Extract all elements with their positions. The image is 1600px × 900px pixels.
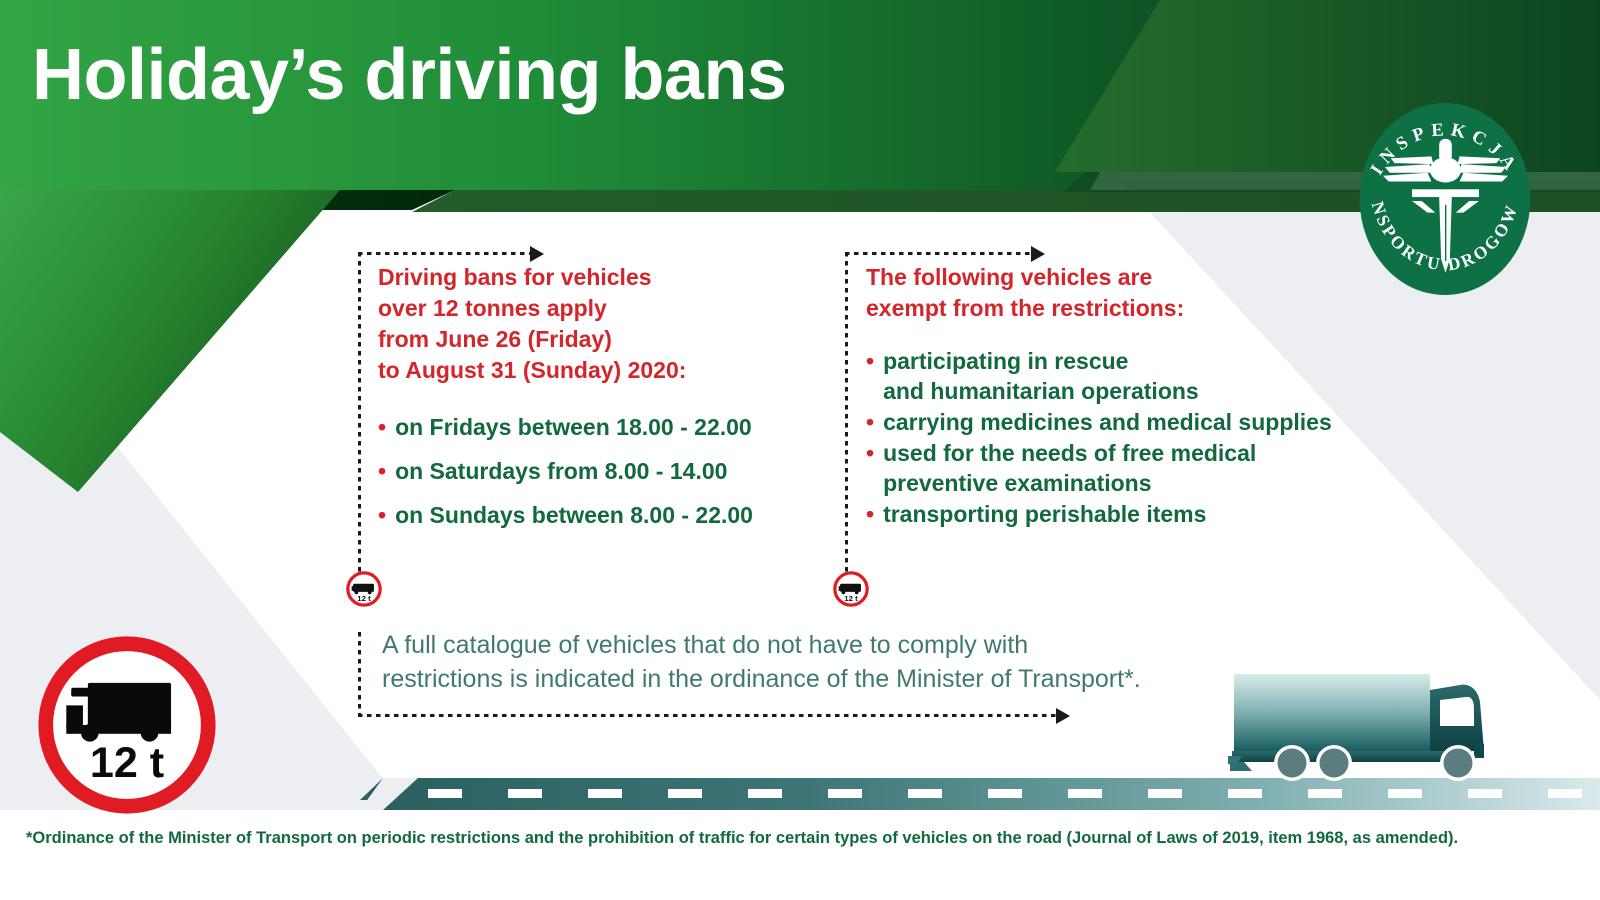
mini-sign-left-label: 12 t <box>357 594 371 603</box>
bullet-dot-icon: • <box>378 412 386 442</box>
bullet-dot-icon: • <box>866 346 874 376</box>
sign-12t-large: 12 t <box>34 632 220 818</box>
left-heading: Driving bans for vehicles over 12 tonnes… <box>378 262 818 386</box>
bullet-dot-icon: • <box>866 407 874 437</box>
mini-sign-right-label: 12 t <box>844 594 858 603</box>
list-item-label: carrying medicines and medical supplies <box>883 407 1332 437</box>
mini-sign-12t-left: 12 t <box>345 570 383 608</box>
cargo-truck-illustration <box>1222 650 1522 790</box>
list-item-label: participating in rescue and humanitarian… <box>883 346 1199 406</box>
right-text-column: The following vehicles are exempt from t… <box>866 262 1376 530</box>
left-connector-vertical <box>358 252 361 582</box>
list-item-label: used for the needs of free medical preve… <box>883 438 1256 498</box>
right-heading: The following vehicles are exempt from t… <box>866 262 1376 324</box>
inspekcja-transportu-drogowego-logo: INSPEKCJA TRANSPORTU DROGOWEGO <box>1348 96 1542 302</box>
list-item: • on Fridays between 18.00 - 22.00 <box>378 412 818 442</box>
list-item: • on Sundays between 8.00 - 22.00 <box>378 500 818 530</box>
right-connector-arrowhead <box>1031 246 1045 262</box>
left-connector-horizontal <box>358 252 530 255</box>
left-text-column: Driving bans for vehicles over 12 tonnes… <box>378 262 818 544</box>
bullet-dot-icon: • <box>378 500 386 530</box>
catalogue-note: A full catalogue of vehicles that do not… <box>382 628 1222 696</box>
list-item-label: on Fridays between 18.00 - 22.00 <box>395 412 752 442</box>
right-bullet-list: • participating in rescue and humanitari… <box>866 346 1376 529</box>
list-item: • on Saturdays from 8.00 - 14.00 <box>378 456 818 486</box>
sign-12t-large-label: 12 t <box>90 739 164 787</box>
note-connector-horizontal <box>358 714 1056 717</box>
infographic-canvas: Holiday’s driving bans INSPEKCJA TRANSPO… <box>0 0 1600 900</box>
list-item-label: on Sundays between 8.00 - 22.00 <box>395 500 753 530</box>
bullet-dot-icon: • <box>866 499 874 529</box>
list-item: • transporting perishable items <box>866 499 1376 529</box>
mini-sign-12t-right: 12 t <box>832 570 870 608</box>
list-item: • used for the needs of free medical pre… <box>866 438 1376 498</box>
list-item: • carrying medicines and medical supplie… <box>866 407 1376 437</box>
list-item-label: transporting perishable items <box>883 499 1206 529</box>
page-title: Holiday’s driving bans <box>32 38 787 114</box>
right-connector-horizontal <box>845 252 1031 255</box>
bullet-dot-icon: • <box>378 456 386 486</box>
list-item-label: on Saturdays from 8.00 - 14.00 <box>395 456 727 486</box>
left-bullet-list: • on Fridays between 18.00 - 22.00 • on … <box>378 412 818 530</box>
truck-silhouette-icon <box>66 683 171 742</box>
footnote: *Ordinance of the Minister of Transport … <box>26 827 1586 849</box>
left-connector-arrowhead <box>530 246 544 262</box>
list-item: • participating in rescue and humanitari… <box>866 346 1376 406</box>
note-connector-arrowhead <box>1056 708 1070 724</box>
right-connector-vertical <box>845 252 848 582</box>
bullet-dot-icon: • <box>866 438 874 468</box>
note-connector-vertical <box>358 632 361 714</box>
